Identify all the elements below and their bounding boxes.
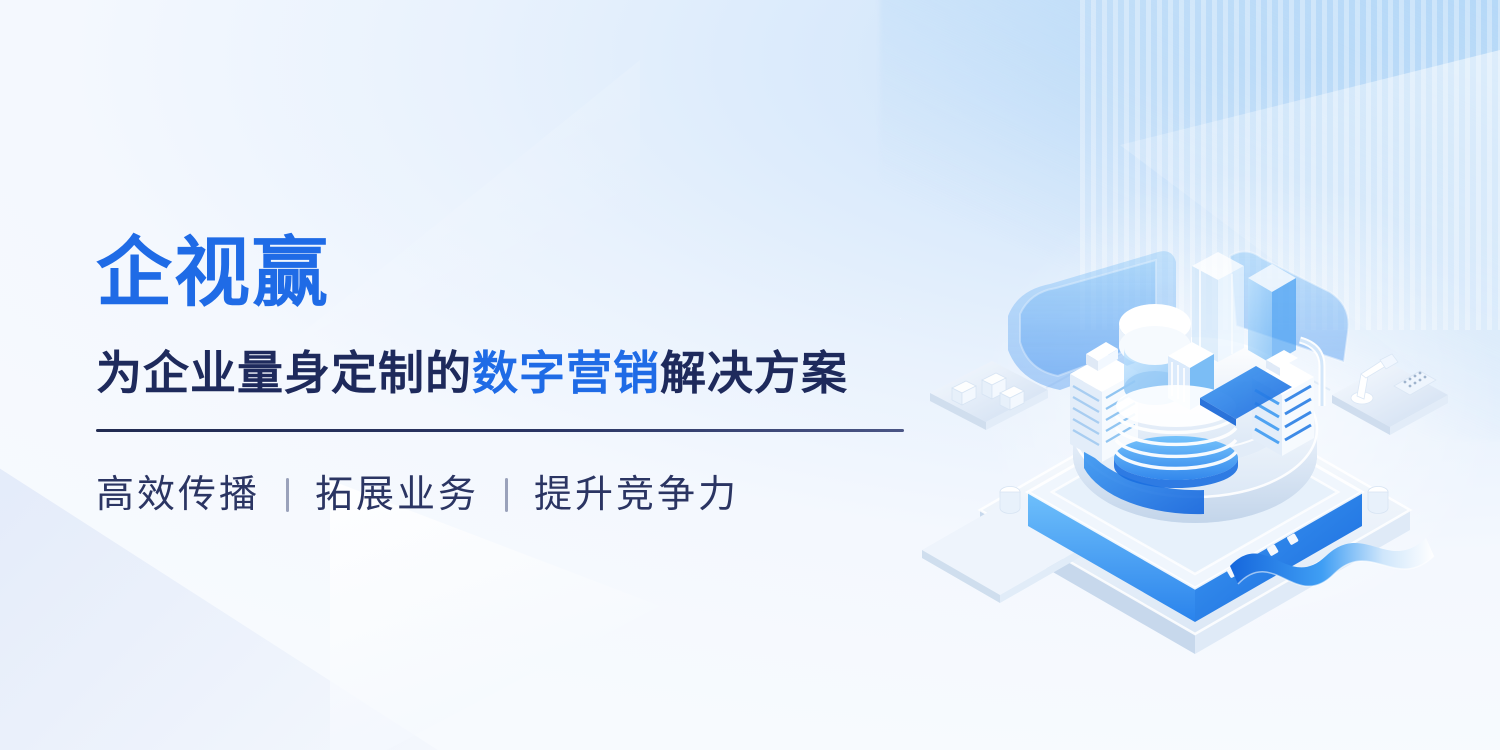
sub-headline-prefix: 为企业量身定制的 (96, 347, 472, 399)
hero-illustration (900, 230, 1460, 660)
divider (96, 429, 904, 432)
tagline-item-2: 拓展业务 (315, 474, 479, 518)
tagline: 高效传播 拓展业务 提升竞争力 (96, 474, 916, 518)
hero-banner: 企视赢 为企业量身定制的数字营销解决方案 高效传播 拓展业务 提升竞争力 (0, 0, 1500, 750)
tagline-separator-icon (286, 478, 289, 512)
hero-text-block: 企视赢 为企业量身定制的数字营销解决方案 高效传播 拓展业务 提升竞争力 (96, 236, 916, 517)
sub-headline-suffix: 解决方案 (660, 347, 848, 399)
tagline-separator-icon (505, 478, 508, 512)
tagline-item-1: 高效传播 (96, 474, 260, 518)
sub-headline: 为企业量身定制的数字营销解决方案 (96, 348, 916, 399)
sub-headline-highlight: 数字营销 (472, 347, 660, 399)
tagline-item-3: 提升竞争力 (534, 474, 739, 518)
page-title: 企视赢 (96, 236, 916, 312)
